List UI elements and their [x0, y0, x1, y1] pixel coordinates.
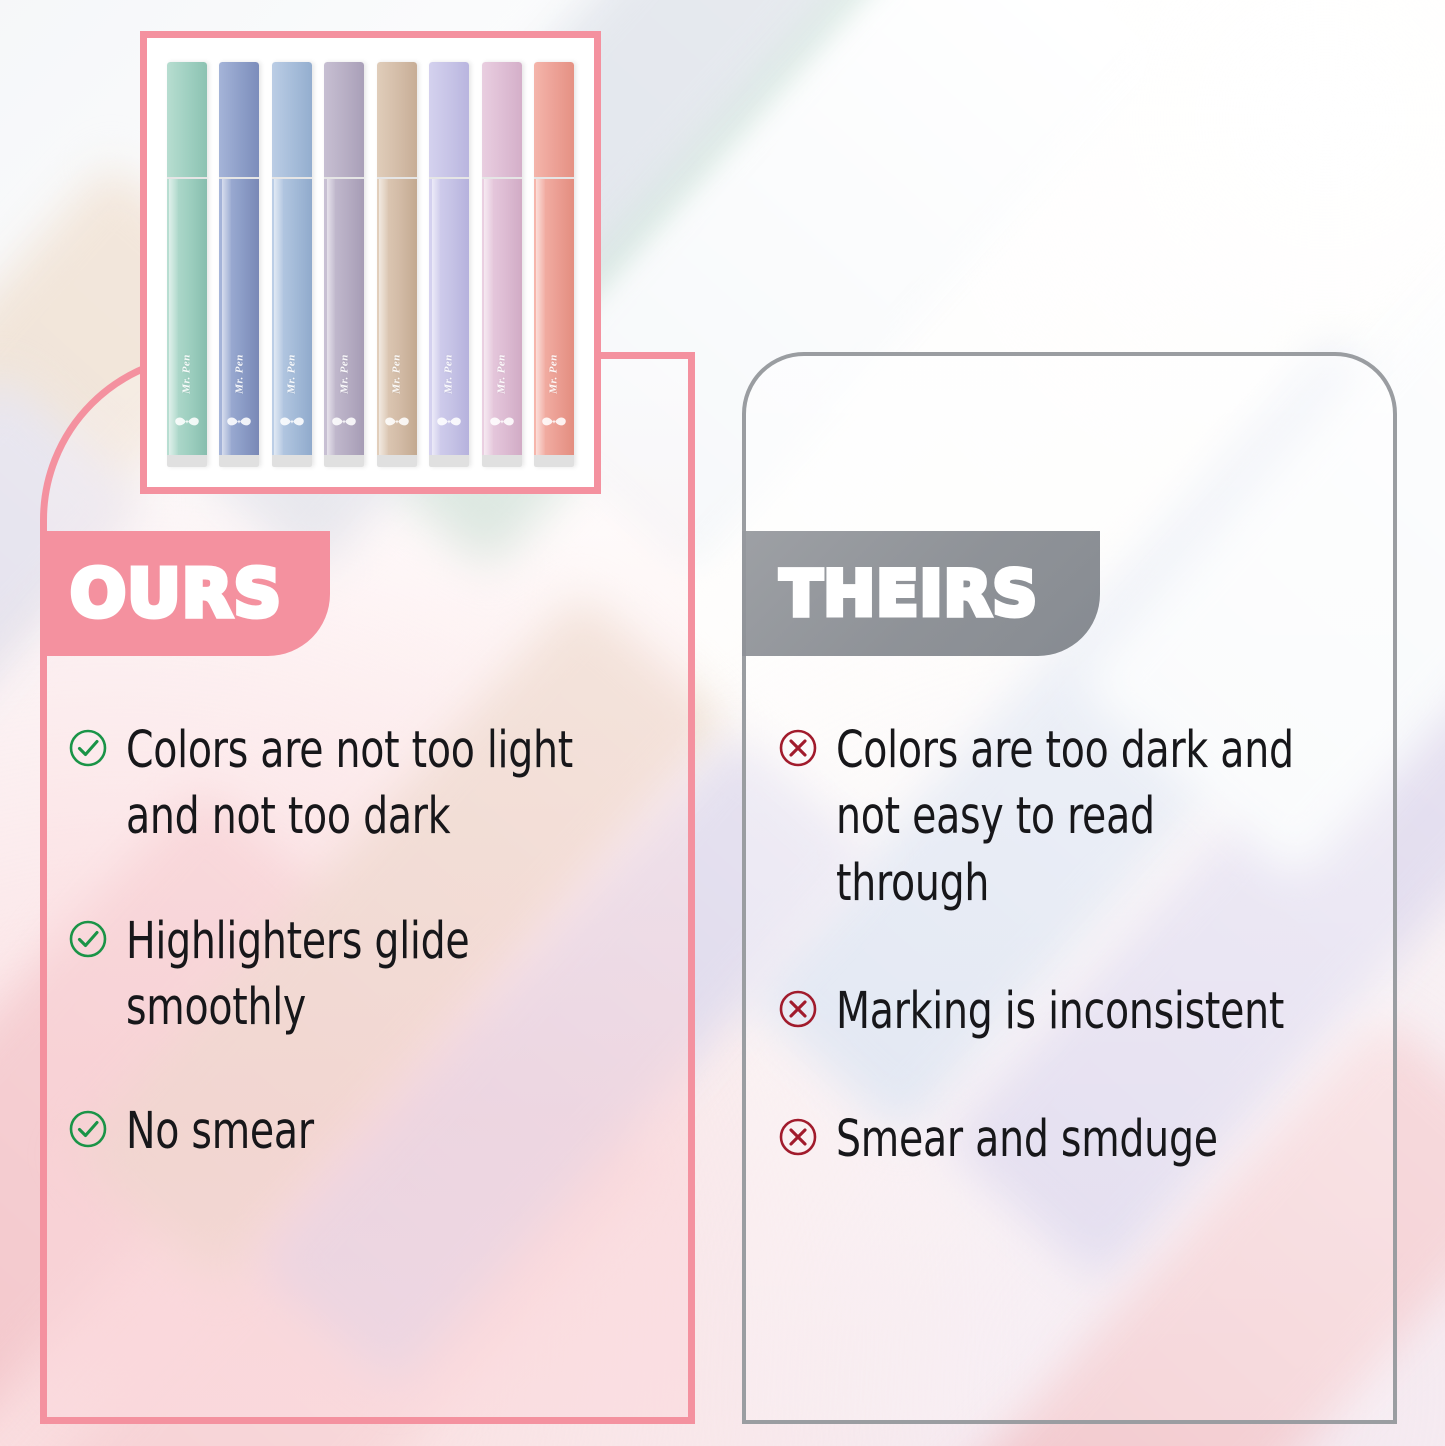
pen-cap	[324, 62, 364, 177]
theirs-feature-list: Colors are too dark and not easy to read…	[778, 718, 1388, 1235]
highlighter-pen-mint-green: Mr. Pen	[167, 62, 207, 467]
theirs-feature-item: Marking is inconsistent	[778, 979, 1388, 1045]
pen-barrel: Mr. Pen	[219, 179, 259, 455]
cross-circle-icon	[778, 728, 818, 768]
pen-tip	[429, 455, 469, 467]
pen-brand-label: Mr. Pen	[338, 354, 350, 393]
pen-tip	[324, 455, 364, 467]
pen-barrel: Mr. Pen	[534, 179, 574, 455]
highlighter-pen-pink-lilac: Mr. Pen	[482, 62, 522, 467]
highlighter-pen-tan-beige: Mr. Pen	[377, 62, 417, 467]
highlighter-pen-blue-gray: Mr. Pen	[219, 62, 259, 467]
theirs-banner-label: THEIRS	[780, 563, 1038, 625]
ours-feature-list: Colors are not too light and not too dar…	[68, 718, 673, 1223]
cross-circle-icon	[778, 989, 818, 1029]
pen-barrel: Mr. Pen	[482, 179, 522, 455]
cross-circle-icon	[778, 1117, 818, 1157]
pen-brand-label: Mr. Pen	[391, 354, 403, 393]
theirs-feature-item: Smear and smduge	[778, 1107, 1388, 1173]
mustache-icon	[279, 414, 305, 429]
pen-barrel: Mr. Pen	[324, 179, 364, 455]
ours-banner: OURS	[40, 531, 330, 656]
pen-cap	[377, 62, 417, 177]
highlighter-pen-light-blue: Mr. Pen	[272, 62, 312, 467]
check-circle-icon	[68, 728, 108, 768]
mustache-icon	[489, 414, 515, 429]
pen-tip	[219, 455, 259, 467]
highlighter-pen-row: Mr. Pen Mr. Pen	[159, 52, 582, 473]
pen-barrel: Mr. Pen	[429, 179, 469, 455]
pen-cap	[534, 62, 574, 177]
pen-barrel: Mr. Pen	[377, 179, 417, 455]
theirs-feature-text: Colors are too dark and not easy to read…	[836, 718, 1311, 917]
theirs-banner: THEIRS	[742, 531, 1100, 656]
mustache-icon	[436, 414, 462, 429]
mustache-icon	[331, 414, 357, 429]
product-image-frame: Mr. Pen Mr. Pen	[140, 31, 601, 494]
highlighter-pen-gray-purple: Mr. Pen	[324, 62, 364, 467]
pen-cap	[167, 62, 207, 177]
pen-cap	[219, 62, 259, 177]
pen-brand-label: Mr. Pen	[496, 354, 508, 393]
highlighter-pen-salmon-pink: Mr. Pen	[534, 62, 574, 467]
ours-feature-item: Highlighters glide smoothly	[68, 909, 673, 1042]
pen-brand-label: Mr. Pen	[286, 354, 298, 393]
mustache-icon	[384, 414, 410, 429]
ours-feature-item: No smear	[68, 1099, 673, 1165]
mustache-icon	[541, 414, 567, 429]
ours-feature-item: Colors are not too light and not too dar…	[68, 718, 673, 851]
pen-brand-label: Mr. Pen	[548, 354, 560, 393]
theirs-feature-item: Colors are too dark and not easy to read…	[778, 718, 1388, 917]
pen-cap	[429, 62, 469, 177]
ours-feature-text: Colors are not too light and not too dar…	[126, 718, 596, 851]
mustache-icon	[174, 414, 200, 429]
pen-cap	[482, 62, 522, 177]
ours-banner-label: OURS	[70, 561, 282, 627]
pen-brand-label: Mr. Pen	[181, 354, 193, 393]
pen-brand-label: Mr. Pen	[233, 354, 245, 393]
pen-tip	[377, 455, 417, 467]
pen-tip	[482, 455, 522, 467]
pen-cap	[272, 62, 312, 177]
comparison-infographic: Mr. Pen Mr. Pen	[0, 0, 1445, 1446]
pen-tip	[272, 455, 312, 467]
pen-tip	[167, 455, 207, 467]
pen-brand-label: Mr. Pen	[443, 354, 455, 393]
check-circle-icon	[68, 919, 108, 959]
pen-barrel: Mr. Pen	[272, 179, 312, 455]
mustache-icon	[226, 414, 252, 429]
theirs-feature-text: Marking is inconsistent	[836, 979, 1311, 1045]
check-circle-icon	[68, 1109, 108, 1149]
pen-tip	[534, 455, 574, 467]
ours-feature-text: No smear	[126, 1099, 596, 1165]
pen-barrel: Mr. Pen	[167, 179, 207, 455]
theirs-feature-text: Smear and smduge	[836, 1107, 1311, 1173]
highlighter-pen-lavender: Mr. Pen	[429, 62, 469, 467]
ours-feature-text: Highlighters glide smoothly	[126, 909, 596, 1042]
